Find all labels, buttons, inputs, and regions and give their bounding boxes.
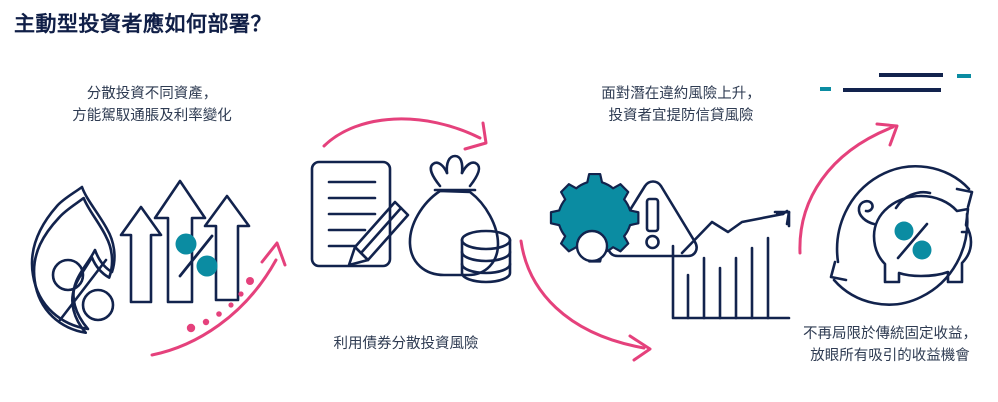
caption-beyond-fixed-income: 不再局限於傳統固定收益， 放眼所有吸引的收益機會 (782, 323, 998, 368)
caption-line: 分散投資不同資產， (42, 83, 262, 105)
caption-diversify-assets: 分散投資不同資產， 方能駕馭通脹及利率變化 (42, 83, 262, 128)
caption-bond-diversification: 利用債券分散投資風險 (300, 333, 512, 355)
document-pencil-moneybag-icon (312, 156, 510, 282)
top-right-dashes (820, 75, 971, 90)
gear-warning-barchart-icon (608, 182, 789, 319)
page-title: 主動型投資者應如何部署？ (14, 8, 272, 38)
piggybank-percent-refresh-icon (831, 166, 972, 304)
gear-icon (551, 174, 638, 261)
percent-accent-teal-1 (176, 234, 218, 277)
percent-accent-teal-2 (895, 222, 932, 260)
caption-line: 方能駕馭通脹及利率變化 (42, 105, 262, 127)
arrow-step-1-to-2 (152, 243, 285, 355)
caption-credit-risk: 面對潛在違約風險上升， 投資者宜提防信貸風險 (578, 83, 784, 128)
arrow-step-2-top (324, 119, 486, 149)
caption-line: 不再局限於傳統固定收益， (782, 323, 998, 345)
arrow-step-3-to-4 (800, 124, 897, 253)
arrow-step-2-to-3 (521, 241, 650, 360)
inflation-flame-percent-arrows-icon (32, 181, 249, 333)
caption-line: 放眼所有吸引的收益機會 (782, 345, 998, 367)
caption-line: 投資者宜提防信貸風險 (578, 105, 784, 127)
caption-line: 面對潛在違約風險上升， (578, 83, 784, 105)
arrow-dotted-accent (187, 277, 254, 332)
infographic-canvas: 主動型投資者應如何部署？ 分散投資不同資產， 方能駕馭通脹及利率變化 利用債券分… (0, 0, 998, 402)
caption-line: 利用債券分散投資風險 (300, 333, 512, 355)
